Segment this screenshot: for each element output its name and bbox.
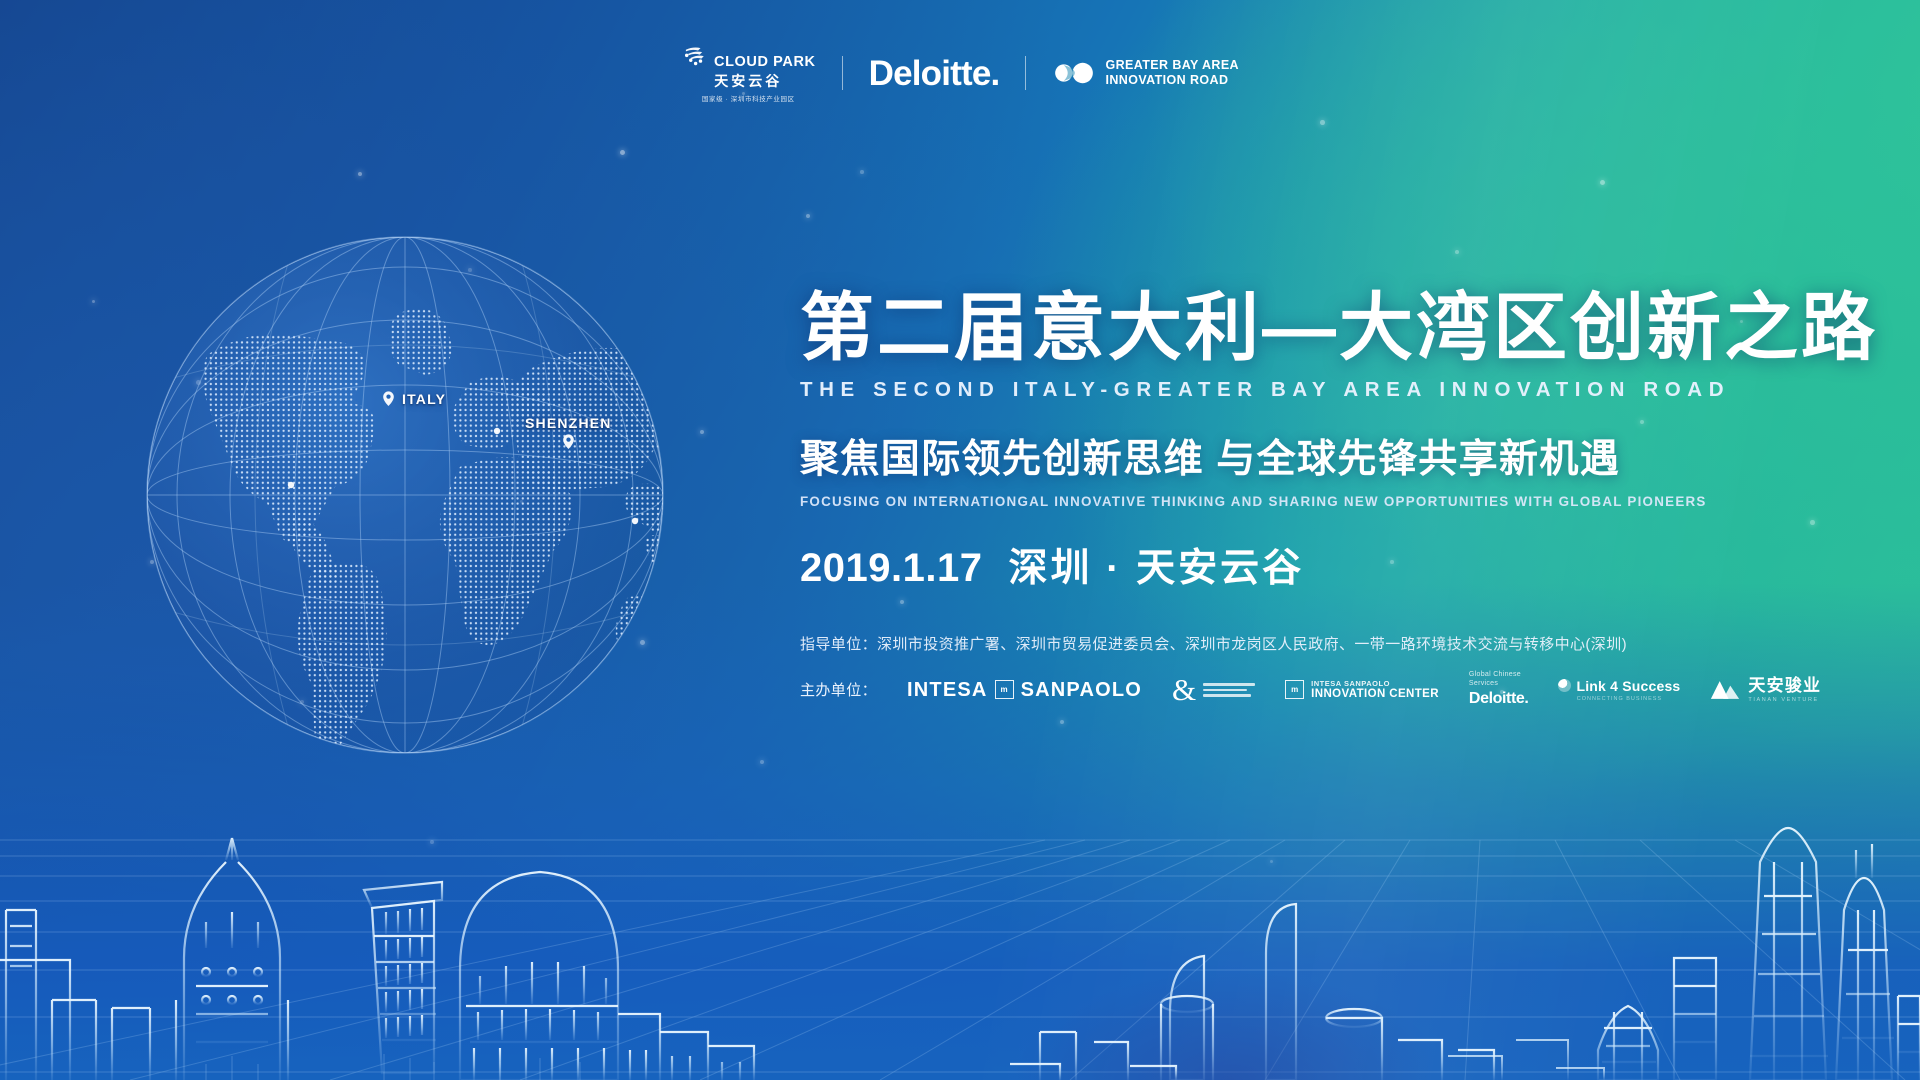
- event-title-english: THE SECOND ITALY-GREATER BAY AREA INNOVA…: [800, 378, 1860, 402]
- link4success-globe-icon: [1558, 679, 1571, 692]
- main-content: 第二届意大利—大湾区创新之路 THE SECOND ITALY-GREATER …: [800, 290, 1860, 707]
- logo-divider: [1025, 56, 1026, 90]
- cloud-park-chinese-label: 天安云谷: [714, 74, 782, 88]
- ampersand-icon: &: [1172, 674, 1196, 705]
- sponsor-ampersand-institute[interactable]: &: [1172, 673, 1255, 707]
- logo-greater-bay-area[interactable]: GREATER BAY AREA INNOVATION ROAD: [1052, 58, 1239, 88]
- header-logo-bar: CLOUD PARK 天安云谷 国家级 · 深圳市科技产业园区 Deloitte…: [681, 42, 1239, 104]
- cloud-park-tagline: 国家级 · 深圳市科技产业园区: [702, 93, 795, 103]
- globe-graphic: ITALY SHENZHEN: [95, 185, 715, 805]
- innovation-center-line1: INTESA SANPAOLO: [1311, 679, 1439, 688]
- link4success-subtitle: CONNECTING BUSINESS: [1558, 696, 1680, 702]
- sponsor-link-4-success[interactable]: Link 4 Success CONNECTING BUSINESS: [1558, 673, 1680, 707]
- innovation-center-line2: INNOVATION CENTER: [1311, 688, 1439, 702]
- tianan-mountain-icon: [1710, 679, 1740, 701]
- sponsor-innovation-center[interactable]: m INTESA SANPAOLO INNOVATION CENTER: [1285, 673, 1439, 707]
- map-pin-icon: [560, 433, 577, 450]
- tianan-chinese-label: 天安骏业: [1748, 676, 1821, 696]
- event-title-chinese: 第二届意大利—大湾区创新之路: [800, 290, 1860, 367]
- intesa-mark-icon: m: [995, 680, 1014, 699]
- logo-cloud-park[interactable]: CLOUD PARK 天安云谷 国家级 · 深圳市科技产业园区: [681, 44, 816, 103]
- deloitte-gcs-line2: Services: [1469, 680, 1529, 689]
- tianan-english-label: TIANAN VENTURE: [1748, 697, 1821, 704]
- event-place: 深圳 · 天安云谷: [1008, 537, 1304, 593]
- event-subtitle-chinese: 聚焦国际领先创新思维 与全球先锋共享新机遇: [800, 428, 1860, 484]
- globe-marker-italy-label: ITALY: [402, 391, 446, 407]
- globe-marker-shenzhen-label: SHENZHEN: [525, 415, 612, 431]
- intesa-word-1: INTESA: [907, 680, 988, 700]
- map-pin-icon: [380, 390, 397, 407]
- deloitte-gcs-line1: Global Chinese: [1469, 671, 1529, 680]
- sponsor-tianan-venture[interactable]: 天安骏业 TIANAN VENTURE: [1710, 673, 1821, 707]
- deloitte-gcs-wordmark: Deloitte.: [1469, 689, 1529, 709]
- guidance-organizations: 指导单位：深圳市投资推广署、深圳市贸易促进委员会、深圳市龙岗区人民政府、一带一路…: [800, 633, 1860, 654]
- globe-marker-italy: ITALY: [380, 390, 446, 407]
- mountain-silhouette: [950, 920, 1510, 1080]
- logo-divider: [842, 56, 843, 90]
- sponsor-intesa-sanpaolo[interactable]: INTESA m SANPAOLO: [907, 673, 1142, 707]
- sponsor-deloitte-gcs[interactable]: Global Chinese Services Deloitte.: [1469, 673, 1529, 707]
- event-datetime: 2019.1.17 深圳 · 天安云谷: [800, 537, 1860, 593]
- intesa-mark-glyph: m: [1001, 686, 1008, 694]
- sponsor-row: 主办单位： INTESA m SANPAOLO & m INTES: [800, 673, 1860, 707]
- cloud-park-english-label: CLOUD PARK: [714, 55, 816, 70]
- logo-deloitte[interactable]: Deloitte.: [869, 56, 1000, 91]
- link4success-title: Link 4 Success: [1576, 678, 1680, 694]
- intesa-word-2: SANPAOLO: [1021, 680, 1142, 700]
- greater-bay-area-line2: INNOVATION ROAD: [1105, 73, 1239, 88]
- event-poster: ITALY SHENZHEN: [0, 0, 1920, 1080]
- event-subtitle-english: FOCUSING ON INTERNATIONGAL INNOVATIVE TH…: [800, 494, 1860, 509]
- host-label: 主办单位：: [800, 679, 877, 700]
- cloud-park-mark-icon: [681, 44, 707, 70]
- innovation-center-mark-icon: m: [1285, 680, 1304, 699]
- greater-bay-area-mark-icon: [1052, 60, 1096, 86]
- globe-marker-shenzhen: SHENZHEN: [525, 415, 612, 450]
- event-date: 2019.1.17: [800, 546, 982, 591]
- ampersand-text-lines: [1203, 683, 1255, 697]
- greater-bay-area-line1: GREATER BAY AREA: [1105, 58, 1239, 73]
